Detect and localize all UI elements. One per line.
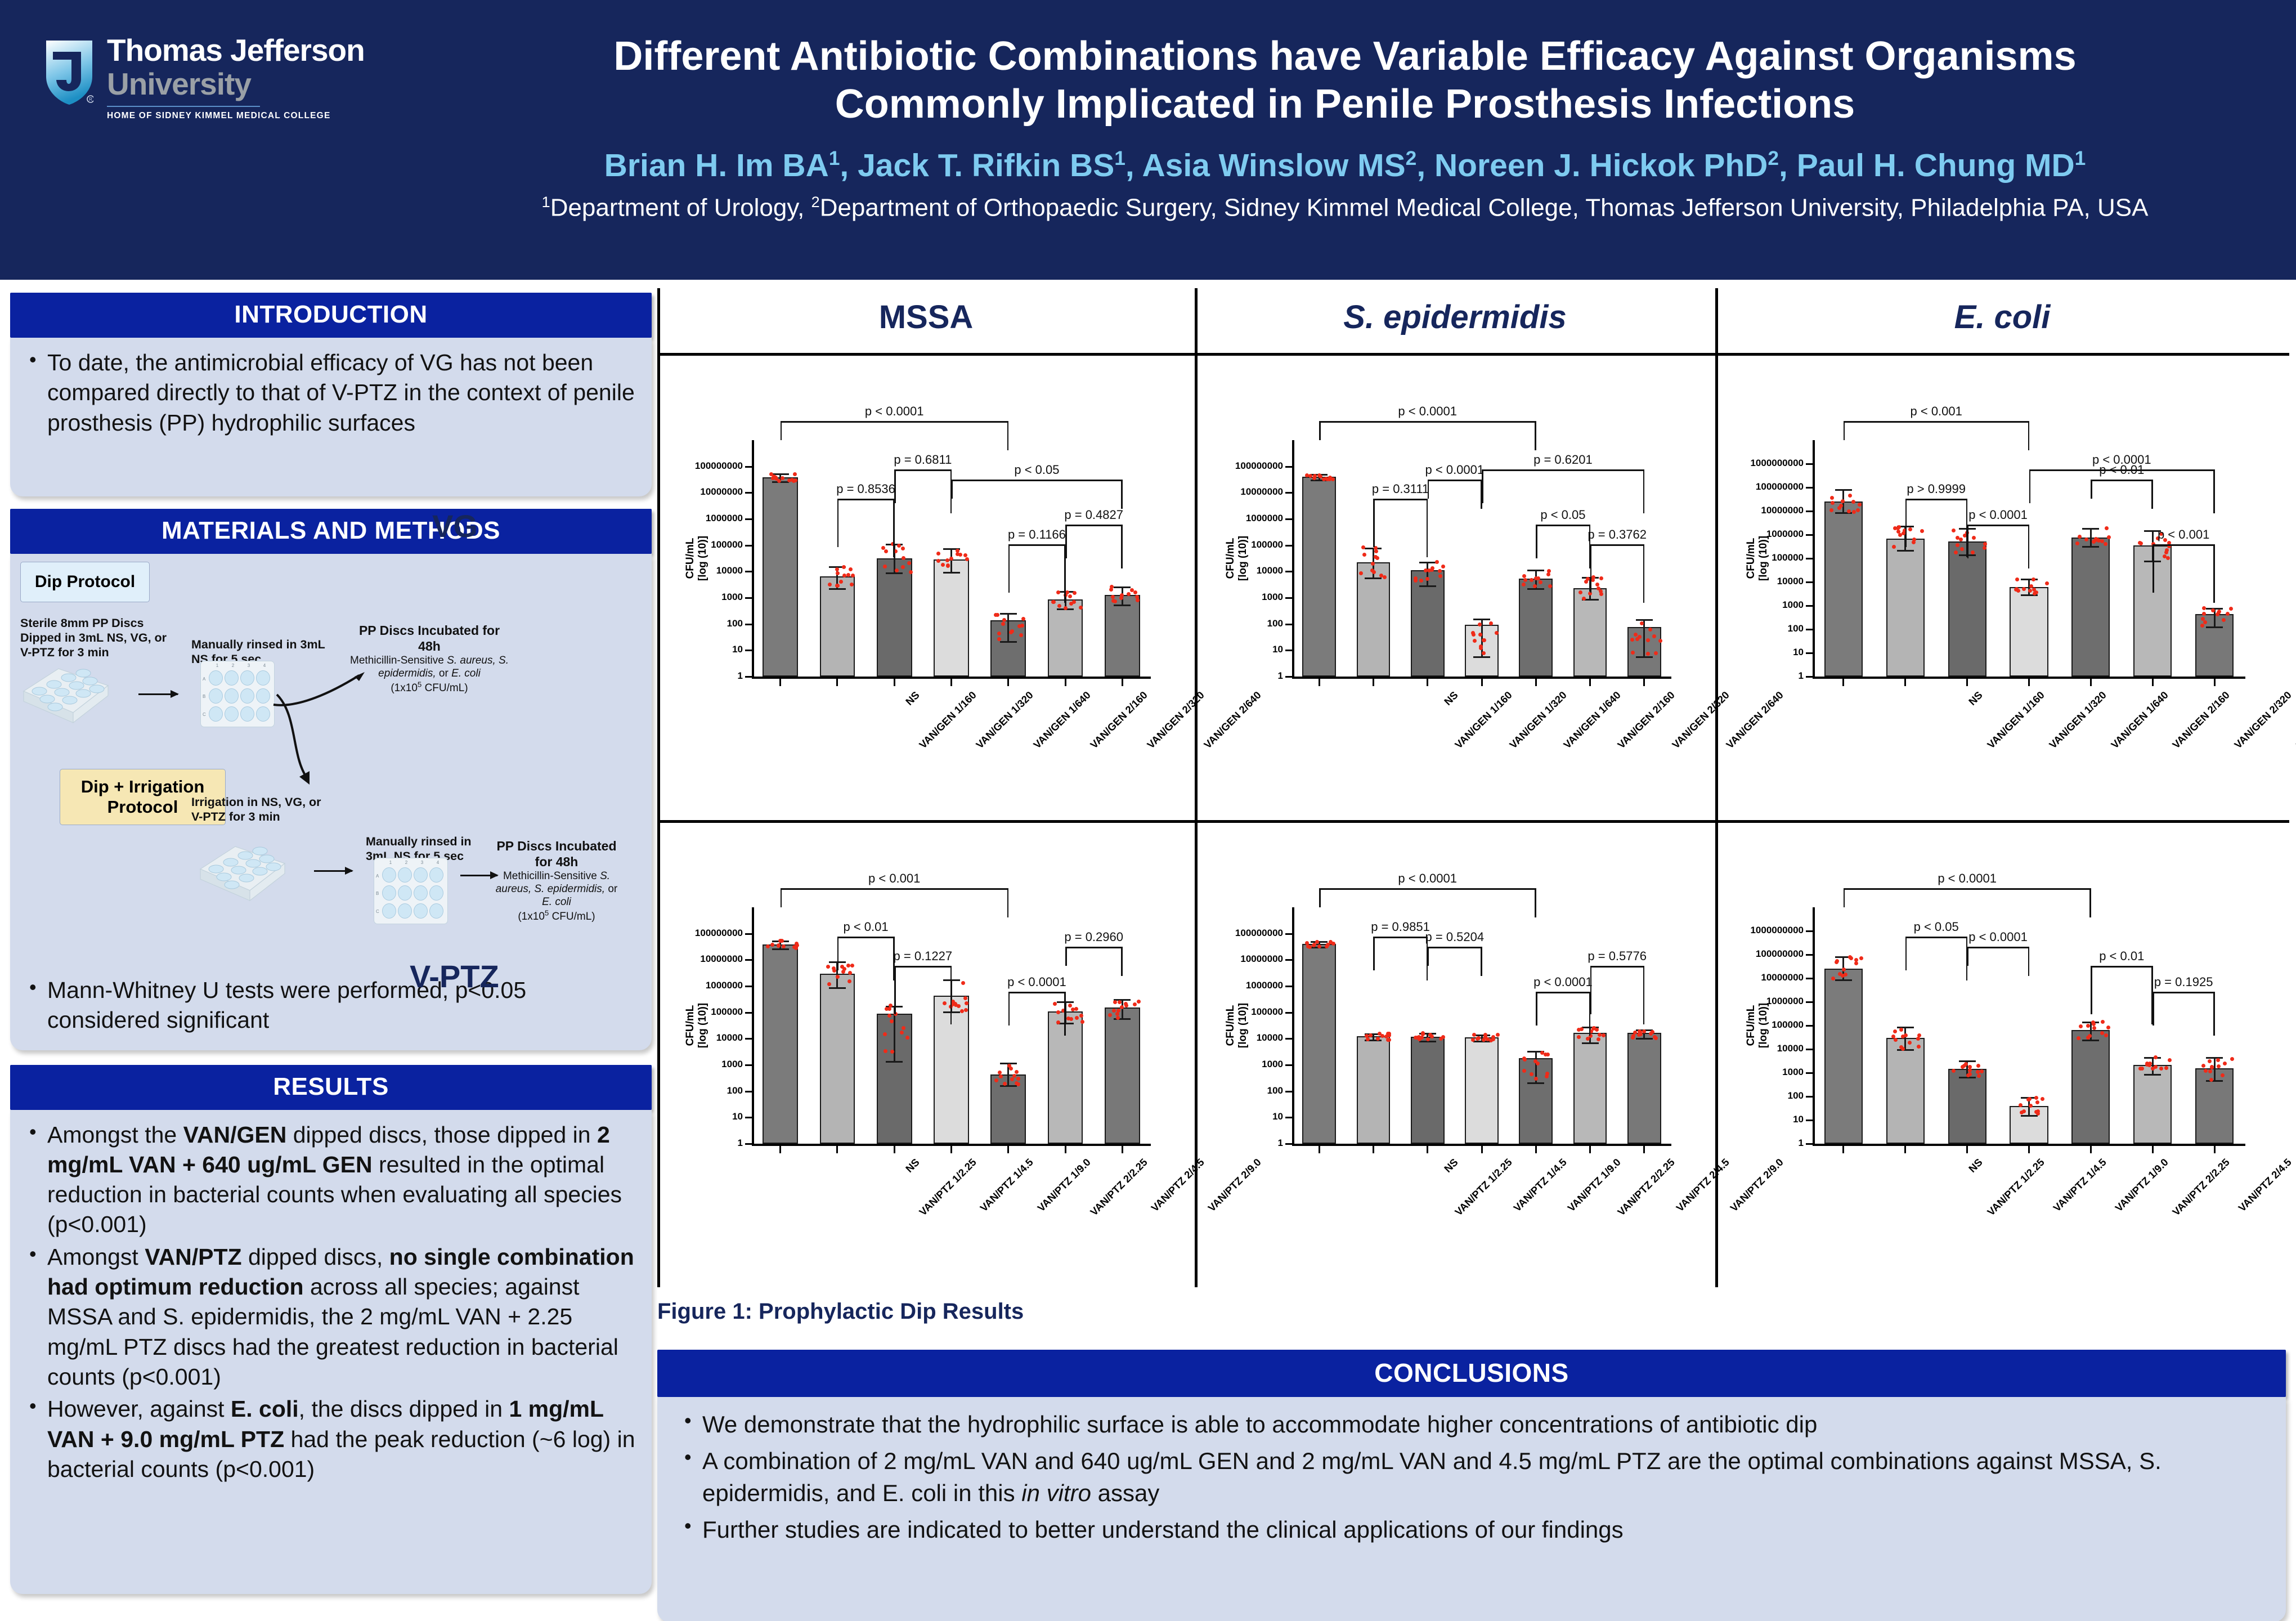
- data-point: [997, 632, 1001, 635]
- data-point: [1072, 600, 1076, 604]
- bar: [1465, 1037, 1499, 1144]
- y-tick-mark: [745, 466, 752, 468]
- data-point: [1972, 536, 1976, 540]
- data-point: [1116, 1016, 1120, 1020]
- data-point: [1639, 1032, 1643, 1036]
- significance-bracket: [657, 469, 1195, 470]
- logo-divider: [107, 106, 260, 107]
- y-tick-label: 100000000: [1721, 481, 1804, 492]
- error-bar-cap: [943, 572, 960, 574]
- bar: [1105, 595, 1140, 677]
- introduction-header: INTRODUCTION: [10, 293, 652, 338]
- y-tick-label: 100: [1201, 618, 1283, 629]
- data-point: [793, 472, 797, 476]
- error-bar-cap: [1835, 979, 1852, 981]
- error-bar-cap: [1897, 1049, 1914, 1051]
- data-point: [1127, 592, 1131, 596]
- x-tick-mark: [1535, 679, 1537, 686]
- data-point: [2138, 1067, 2142, 1071]
- page-title: Different Antibiotic Combinations have V…: [428, 33, 2262, 128]
- conclusions-header: CONCLUSIONS: [657, 1350, 2286, 1397]
- data-point: [1635, 637, 1639, 641]
- data-point: [1899, 1028, 1903, 1032]
- data-point: [1113, 599, 1117, 603]
- x-tick-mark: [1427, 1146, 1428, 1153]
- data-point: [901, 547, 905, 550]
- data-point: [907, 561, 911, 565]
- bar: [1048, 599, 1083, 677]
- p-value-label: p = 0.1227: [889, 949, 957, 964]
- p-value-label: p < 0.001: [1903, 404, 1970, 419]
- error-bar-cap: [829, 987, 846, 989]
- x-tick-label: VAN/PTZ 1/9.0: [993, 1156, 1093, 1256]
- y-tick-label: 10: [661, 644, 743, 655]
- chart-vg-ecoli: CFU/mL[log (10)]110100100010000100000100…: [1718, 356, 2289, 820]
- data-point: [1597, 1037, 1600, 1041]
- data-point: [836, 571, 840, 575]
- y-tick-mark: [1285, 492, 1292, 494]
- error-bar: [1643, 619, 1645, 656]
- y-tick-label: 10: [1721, 647, 1804, 658]
- x-tick-label: NS: [822, 689, 922, 789]
- y-tick-label: 100000: [1201, 1006, 1283, 1018]
- y-tick-mark: [745, 1012, 752, 1014]
- error-bar-cap: [2082, 528, 2099, 530]
- data-point: [1859, 956, 1863, 960]
- p-value-label: p = 0.6201: [1529, 453, 1597, 467]
- data-point: [2020, 1110, 2024, 1114]
- x-tick-label: VAN/GEN 2/160: [1577, 689, 1678, 789]
- data-point: [1056, 1020, 1060, 1024]
- y-tick-label: 10000000: [661, 486, 743, 498]
- data-point: [1113, 1000, 1117, 1004]
- data-point: [1068, 594, 1072, 598]
- x-tick-mark: [1319, 1146, 1320, 1153]
- bar: [1302, 477, 1336, 677]
- data-point: [2200, 624, 2204, 628]
- data-point: [1057, 604, 1061, 608]
- data-point: [2034, 590, 2038, 594]
- data-point: [1369, 1033, 1373, 1037]
- x-tick-mark: [2214, 679, 2216, 686]
- error-bar-cap: [1419, 585, 1436, 587]
- y-tick-label: 1000000: [1201, 513, 1283, 524]
- data-point: [2209, 1078, 2213, 1082]
- bar: [1824, 969, 1863, 1144]
- bar: [1519, 579, 1553, 677]
- figure-panel: MSSA S. epidermidis E. coli VG V-PTZ CFU…: [657, 288, 2289, 1301]
- data-point: [1917, 1033, 1921, 1037]
- y-tick-label: 10000: [1721, 1043, 1804, 1054]
- results-body: Amongst the VAN/GEN dipped discs, those …: [10, 1110, 652, 1594]
- data-point: [945, 558, 949, 562]
- y-tick-mark: [745, 1064, 752, 1066]
- data-point: [881, 546, 885, 550]
- data-point: [1073, 591, 1077, 595]
- data-point: [1912, 540, 1916, 544]
- p-value-label: p < 0.0001: [1003, 975, 1070, 989]
- y-tick-label: 10000000: [1201, 953, 1283, 965]
- data-point: [1896, 530, 1900, 534]
- chart-vptz-mssa: CFU/mL[log (10)]110100100010000100000100…: [657, 823, 1195, 1296]
- y-tick-mark: [1806, 978, 1813, 979]
- x-tick-mark: [2028, 1146, 2030, 1153]
- data-point: [1901, 1035, 1905, 1038]
- p-value-label: p = 0.3762: [1584, 527, 1651, 542]
- y-tick-mark: [1806, 487, 1813, 489]
- data-point: [1308, 474, 1312, 478]
- y-tick-label: 1000000: [1721, 996, 1804, 1007]
- y-tick-label: 100: [1721, 623, 1804, 634]
- y-tick-label: 10000: [1721, 576, 1804, 587]
- data-point: [1892, 545, 1896, 549]
- section-introduction: INTRODUCTION To date, the antimicrobial …: [10, 293, 652, 496]
- y-tick-mark: [1285, 571, 1292, 572]
- data-point: [1968, 1072, 1972, 1076]
- y-tick-mark: [1285, 1064, 1292, 1066]
- x-tick-label: VAN/GEN 2/320: [1106, 689, 1207, 789]
- y-tick-mark: [1806, 558, 1813, 559]
- significance-bracket: [657, 480, 1195, 480]
- data-point: [1430, 566, 1434, 570]
- flow-arrow-1: [138, 693, 178, 695]
- data-point: [2075, 541, 2079, 545]
- data-point: [960, 1009, 964, 1013]
- x-tick-mark: [1643, 1146, 1645, 1153]
- y-axis: [1813, 907, 1815, 1144]
- error-bar-cap: [2082, 1040, 2099, 1041]
- y-tick-mark: [1806, 463, 1813, 465]
- y-axis: [752, 907, 754, 1144]
- x-tick-mark: [1122, 679, 1123, 686]
- y-tick-label: 100000: [1721, 1019, 1804, 1031]
- p-value-label: p = 0.8536: [832, 482, 900, 496]
- y-tick-mark: [1806, 1072, 1813, 1074]
- figure-caption: Figure 1: Prophylactic Dip Results: [657, 1299, 1024, 1324]
- data-point: [936, 559, 940, 563]
- y-tick-mark: [745, 571, 752, 572]
- x-tick-label: VAN/GEN 1/160: [878, 689, 979, 789]
- significance-bracket: [1198, 888, 1715, 889]
- x-tick-mark: [1589, 1146, 1591, 1153]
- error-bar-cap: [1114, 604, 1131, 606]
- x-tick-label: VAN/PTZ 1/2.25: [878, 1156, 979, 1256]
- y-tick-mark: [745, 545, 752, 547]
- p-value-label: p < 0.05: [1529, 508, 1597, 522]
- data-point: [1075, 1016, 1079, 1020]
- p-value-label: p < 0.01: [832, 920, 900, 934]
- data-point: [1068, 1004, 1072, 1007]
- data-point: [2216, 1058, 2220, 1062]
- data-point: [1893, 1029, 1897, 1033]
- data-point: [884, 1049, 887, 1053]
- y-tick-label: 100: [661, 618, 743, 629]
- data-point: [1366, 1037, 1370, 1041]
- data-point: [1917, 1045, 1921, 1049]
- data-point: [1441, 1035, 1445, 1039]
- data-point: [1109, 588, 1113, 592]
- significance-bracket: [1198, 525, 1715, 525]
- data-point: [1056, 1010, 1060, 1014]
- data-point: [1438, 569, 1442, 573]
- data-point: [1658, 639, 1662, 643]
- data-point: [2230, 1057, 2234, 1061]
- y-tick-mark: [745, 650, 752, 651]
- error-bar-cap: [886, 572, 903, 574]
- error-bar-cap: [772, 948, 789, 950]
- bar: [763, 477, 798, 677]
- significance-bracket: [1718, 469, 2289, 470]
- y-tick-mark: [745, 959, 752, 961]
- y-tick-label: 1000000: [1201, 980, 1283, 991]
- significance-bracket: [1718, 421, 2289, 422]
- data-point: [1111, 595, 1115, 599]
- y-tick-mark: [1806, 1096, 1813, 1098]
- bar: [934, 559, 969, 677]
- y-tick-mark: [1806, 1001, 1813, 1003]
- data-point: [1435, 560, 1439, 564]
- y-tick-mark: [1285, 676, 1292, 678]
- bar: [1948, 541, 1986, 677]
- bar: [1886, 1038, 1925, 1144]
- data-point: [2165, 548, 2169, 552]
- p-value-label: p = 0.1925: [2150, 975, 2217, 989]
- error-bar-cap: [1000, 1085, 1017, 1087]
- x-tick-mark: [2152, 1146, 2154, 1153]
- data-point: [1496, 1033, 1500, 1037]
- error-bar-cap: [2082, 546, 2099, 548]
- y-tick-label: 1000: [1201, 592, 1283, 603]
- error-bar-cap: [1636, 1038, 1653, 1040]
- data-point: [1482, 651, 1486, 655]
- bar: [1886, 539, 1925, 677]
- data-point: [1977, 1074, 1981, 1078]
- y-tick-label: 100000: [1721, 552, 1804, 563]
- x-tick-label: VAN/GEN 1/640: [1523, 689, 1623, 789]
- data-point: [1019, 633, 1023, 637]
- data-point: [2015, 577, 2019, 581]
- data-point: [2201, 617, 2205, 621]
- y-tick-mark: [1285, 650, 1292, 651]
- bar: [820, 576, 855, 677]
- affiliations: 1Department of Urology, 2Department of O…: [428, 193, 2262, 223]
- y-tick-label: 10000000: [1721, 505, 1804, 516]
- y-tick-label: 1000000000: [1721, 925, 1804, 936]
- data-point: [849, 567, 853, 571]
- error-bar-cap: [1365, 577, 1382, 579]
- data-point: [953, 1002, 957, 1006]
- data-point: [842, 565, 846, 569]
- significance-bracket: [1198, 480, 1715, 480]
- data-point: [1426, 1037, 1430, 1041]
- error-bar: [2090, 528, 2092, 546]
- y-tick-mark: [745, 1038, 752, 1040]
- y-tick-mark: [1806, 1143, 1813, 1145]
- x-tick-mark: [894, 679, 895, 686]
- data-point: [1137, 1000, 1141, 1004]
- y-axis: [1292, 907, 1294, 1144]
- y-tick-mark: [1285, 518, 1292, 520]
- data-point: [890, 1019, 894, 1023]
- list-item: A combination of 2 mg/mL VAN and 640 ug/…: [680, 1445, 2263, 1509]
- x-tick-mark: [950, 679, 952, 686]
- x-tick-mark: [950, 1146, 952, 1153]
- flow-arrow-2: [314, 870, 352, 872]
- y-tick-mark: [1285, 597, 1292, 599]
- data-point: [827, 982, 831, 986]
- data-point: [1841, 499, 1845, 503]
- logo-line-2: University: [107, 67, 365, 101]
- x-tick-label: VAN/PTZ 2/4.5: [1106, 1156, 1207, 1256]
- x-tick-mark: [1065, 679, 1066, 686]
- significance-bracket: [1198, 966, 1715, 966]
- x-tick-mark: [2090, 679, 2092, 686]
- chart-vptz-sepi: CFU/mL[log (10)]110100100010000100000100…: [1198, 823, 1715, 1296]
- y-tick-mark: [745, 518, 752, 520]
- bar: [1824, 501, 1863, 677]
- error-bar-cap: [2021, 1115, 2038, 1117]
- data-point: [1599, 576, 1603, 580]
- significance-bracket: [657, 525, 1195, 525]
- significance-bracket: [1718, 888, 2289, 889]
- y-tick-label: 1000000: [661, 513, 743, 524]
- protocol-step-6-body: Methicillin-Sensitive S. aureus, S. epid…: [496, 870, 618, 923]
- data-point: [1135, 595, 1139, 599]
- y-tick-label: 100: [1721, 1090, 1804, 1101]
- data-point: [909, 570, 913, 574]
- data-point: [1631, 651, 1635, 655]
- list-item: To date, the antimicrobial efficacy of V…: [25, 348, 637, 438]
- conclusions-bullets: We demonstrate that the hydrophilic surf…: [680, 1408, 2263, 1546]
- data-point: [1523, 578, 1527, 582]
- x-tick-label: NS: [1361, 1156, 1461, 1256]
- list-item: We demonstrate that the hydrophilic surf…: [680, 1408, 2263, 1440]
- x-tick-mark: [836, 679, 838, 686]
- protocol-step-1-label: Sterile 8mm PP Discs Dipped in 3mL NS, V…: [20, 616, 178, 660]
- bar: [1627, 1033, 1661, 1144]
- p-value-label: p = 0.5204: [1421, 930, 1488, 944]
- list-item: Mann-Whitney U tests were performed, p<0…: [25, 975, 637, 1036]
- data-point: [2092, 1026, 2096, 1030]
- y-tick-mark: [1806, 954, 1813, 956]
- data-point: [1854, 961, 1858, 965]
- data-point: [1530, 1072, 1533, 1076]
- error-bar-cap: [1959, 1060, 1976, 1062]
- x-tick-mark: [1535, 1146, 1537, 1153]
- error-bar-cap: [2144, 1057, 2161, 1059]
- data-point: [1374, 555, 1378, 559]
- y-tick-mark: [1806, 581, 1813, 583]
- significance-bracket: [657, 544, 1195, 545]
- data-point: [1968, 1068, 1972, 1072]
- significance-bracket: [1718, 947, 2289, 947]
- error-bar-cap: [1582, 1042, 1599, 1044]
- data-point: [1582, 597, 1586, 601]
- significance-bracket: [1718, 525, 2289, 525]
- y-tick-mark: [745, 676, 752, 678]
- x-tick-label: VAN/GEN 1/640: [993, 689, 1093, 789]
- materials-header: MATERIALS AND METHODS: [10, 509, 652, 554]
- data-point: [1015, 1070, 1019, 1074]
- author-list: Brian H. Im BA1, Jack T. Rifkin BS1, Asi…: [428, 147, 2262, 185]
- data-point: [1595, 583, 1599, 586]
- y-tick-label: 1000000: [661, 980, 743, 991]
- significance-bracket: [657, 499, 1195, 499]
- error-bar-cap: [829, 588, 846, 590]
- data-point: [1441, 565, 1445, 568]
- y-tick-label: 100000000: [1721, 948, 1804, 960]
- data-point: [1976, 1064, 1980, 1068]
- x-tick-mark: [1966, 1146, 1968, 1153]
- x-tick-label: VAN/PTZ 1/4.5: [1469, 1156, 1569, 1256]
- y-tick-mark: [1806, 1120, 1813, 1121]
- data-point: [2208, 1059, 2212, 1063]
- data-point: [1471, 1038, 1475, 1042]
- dip-protocol-tag: Dip Protocol: [20, 562, 150, 602]
- p-value-label: p = 0.6811: [889, 453, 957, 467]
- y-tick-label: 1000: [1721, 599, 1804, 611]
- x-tick-mark: [2214, 1146, 2216, 1153]
- data-point: [1848, 955, 1852, 959]
- x-tick-label: VAN/GEN 1/320: [936, 689, 1036, 789]
- p-value-label: p = 0.3111: [1367, 482, 1434, 496]
- data-point: [902, 556, 905, 560]
- x-tick-mark: [836, 1146, 838, 1153]
- y-tick-mark: [745, 1117, 752, 1118]
- x-tick-mark: [1842, 679, 1844, 686]
- p-value-label: p < 0.01: [2088, 463, 2155, 477]
- significance-bracket: [1718, 480, 2289, 480]
- data-point: [2202, 606, 2206, 610]
- p-value-label: p < 0.001: [2150, 527, 2217, 542]
- x-tick-label: VAN/GEN 1/320: [1469, 689, 1569, 789]
- data-point: [1133, 1002, 1137, 1006]
- x-tick-mark: [1481, 1146, 1483, 1153]
- y-tick-label: 1000: [1201, 1059, 1283, 1070]
- data-point: [943, 1001, 947, 1005]
- data-point: [883, 565, 887, 568]
- data-point: [1053, 1002, 1057, 1006]
- data-point: [1065, 590, 1069, 594]
- y-tick-mark: [1806, 676, 1813, 678]
- y-tick-label: 100000: [661, 1006, 743, 1018]
- y-tick-mark: [1285, 545, 1292, 547]
- data-point: [1120, 593, 1124, 597]
- title-line-2: Commonly Implicated in Penile Prosthesis…: [428, 80, 2262, 128]
- x-tick-mark: [1842, 1146, 1844, 1153]
- data-point: [1362, 553, 1366, 557]
- significance-bracket: [1718, 966, 2289, 966]
- section-results: RESULTS Amongst the VAN/GEN dipped discs…: [10, 1065, 652, 1594]
- data-point: [1586, 1037, 1590, 1041]
- bar: [1573, 588, 1607, 677]
- bar: [1302, 944, 1336, 1144]
- well-plate-isometric-icon-2: [196, 834, 286, 902]
- bar: [2071, 538, 2110, 677]
- y-tick-label: 1000: [661, 1059, 743, 1070]
- chart-vptz-ecoli: CFU/mL[log (10)]110100100010000100000100…: [1718, 823, 2289, 1296]
- data-point: [1376, 1037, 1380, 1041]
- data-point: [1430, 1035, 1434, 1038]
- svg-text:R: R: [89, 97, 92, 102]
- data-point: [2107, 535, 2111, 539]
- y-tick-label: 1000: [1721, 1067, 1804, 1078]
- data-point: [1012, 1074, 1016, 1078]
- data-point: [964, 1008, 968, 1012]
- significance-bracket: [1718, 499, 2289, 499]
- data-point: [2222, 618, 2226, 622]
- data-point: [1858, 503, 1862, 507]
